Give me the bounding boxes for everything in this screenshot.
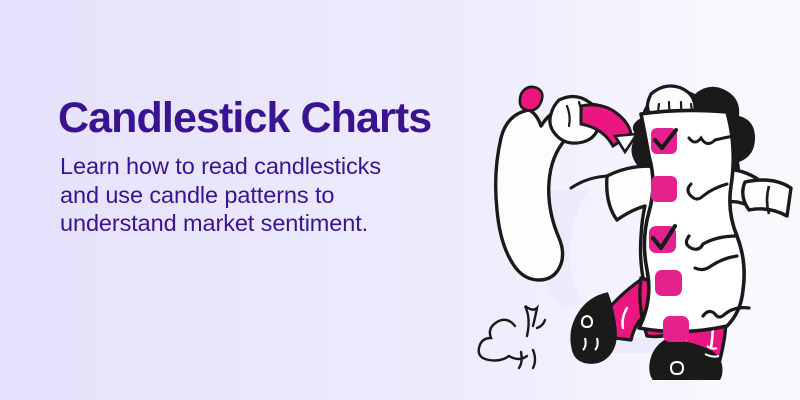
reaching-arm-group <box>743 180 791 216</box>
checkbox-unchecked[interactable] <box>655 270 682 296</box>
page-subtitle: Learn how to read candlesticks and use c… <box>60 152 458 238</box>
checkbox-unchecked[interactable] <box>651 176 677 202</box>
checkbox-unchecked[interactable] <box>663 316 689 342</box>
page-subtitle-line-1: Learn how to read candlesticks <box>60 153 381 179</box>
ground-squiggle-bush <box>479 306 545 368</box>
banner-text-block: Candlestick Charts Learn how to read can… <box>58 94 458 238</box>
person-with-checklist-illustration <box>455 40 800 380</box>
page-title: Candlestick Charts <box>58 94 458 142</box>
shoe-back <box>572 294 616 362</box>
page-subtitle-line-2: and use candle patterns to <box>60 182 334 208</box>
illustration-svg <box>455 40 800 380</box>
shoulder-seam <box>571 176 611 188</box>
page-subtitle-line-3: understand market sentiment. <box>60 210 368 236</box>
candlestick-charts-banner: Candlestick Charts Learn how to read can… <box>0 0 800 400</box>
